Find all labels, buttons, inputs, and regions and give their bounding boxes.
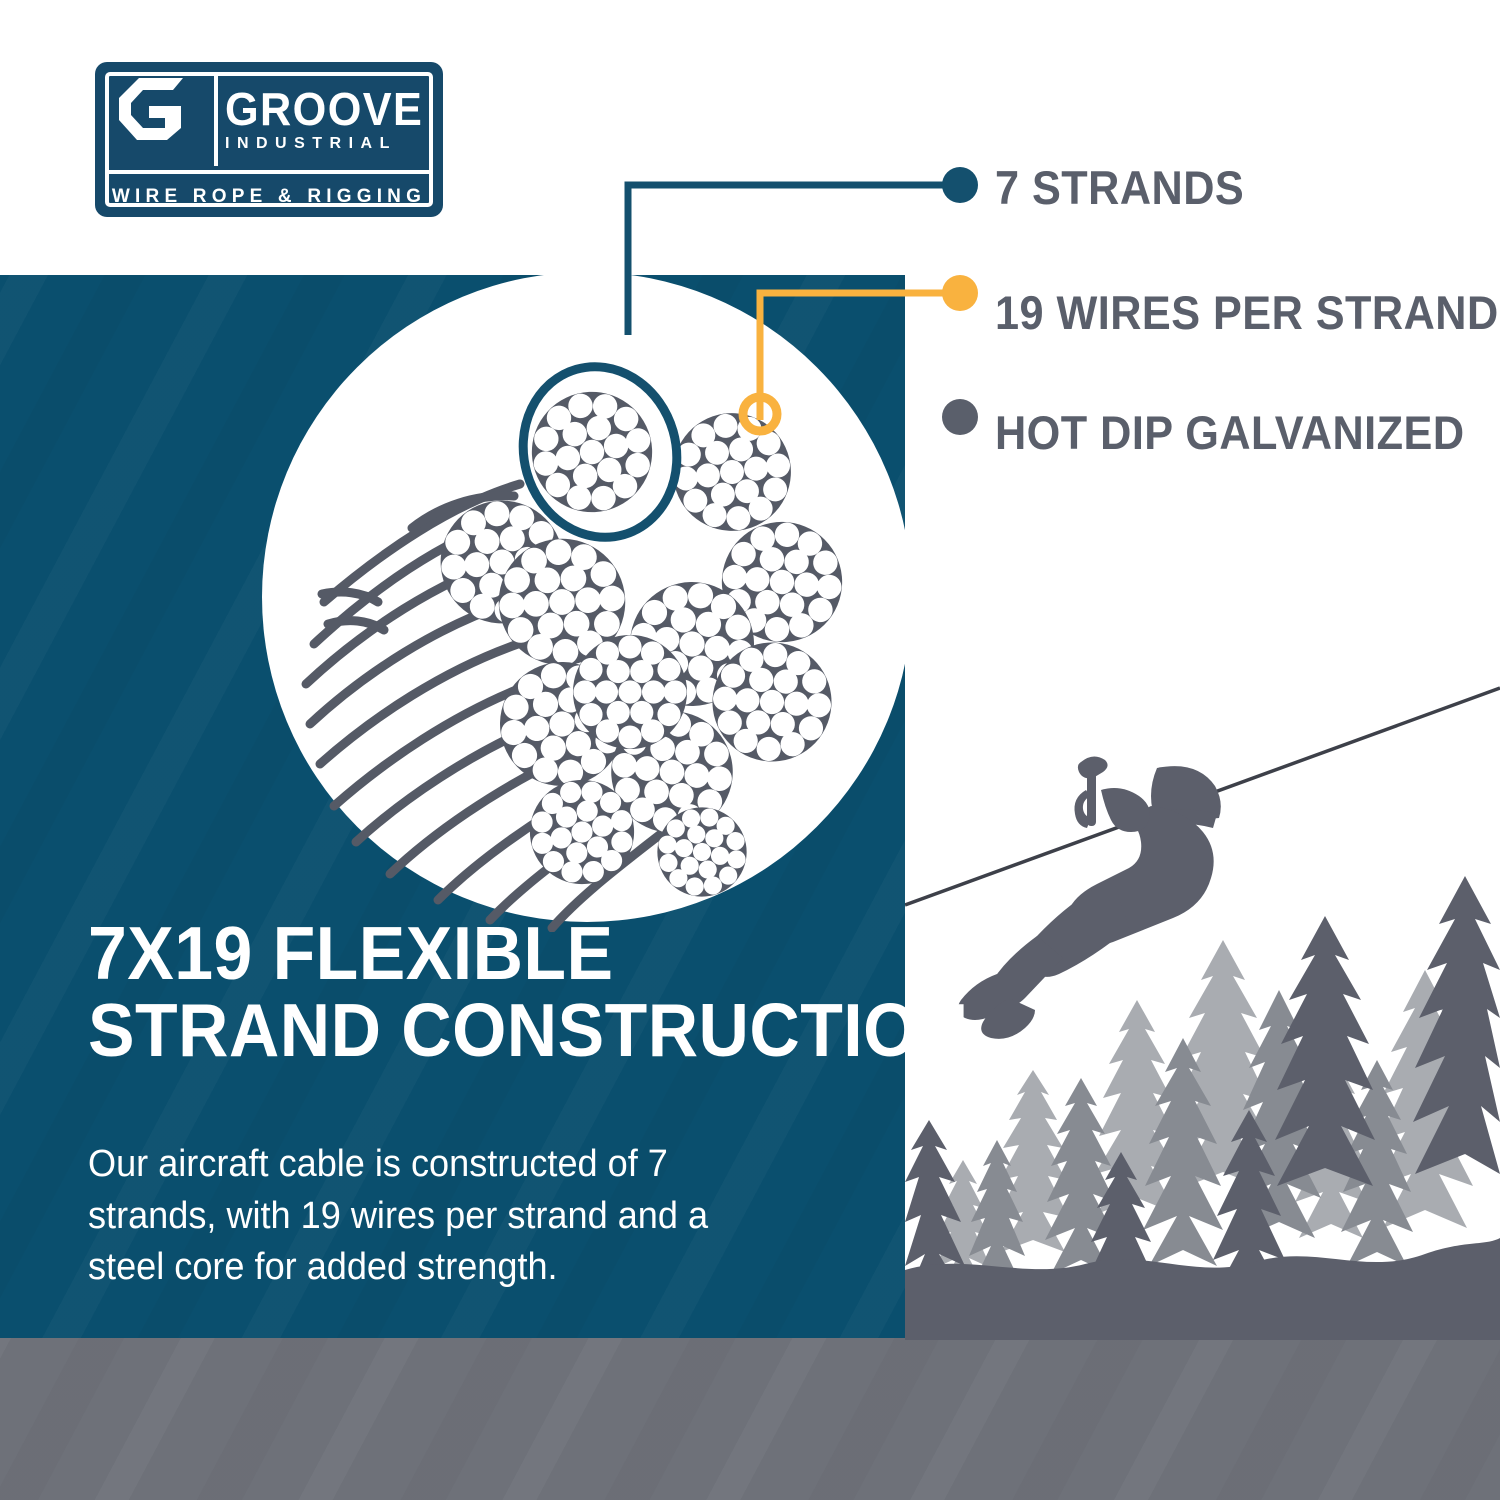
headline-line-2: STRAND CONSTRUCTION <box>88 992 823 1069</box>
callout-label-wires: 19 WIRES PER STRAND <box>995 285 1499 340</box>
callout-connectors <box>560 140 1010 460</box>
logo-tagline-text: WIRE ROPE & RIGGING <box>112 186 426 208</box>
callout-dot-wires <box>942 275 978 311</box>
callout-label-strands: 7 STRANDS <box>995 160 1244 215</box>
logo-sub: INDUSTRIAL <box>225 135 397 153</box>
callout-dot-galvanized <box>942 399 978 435</box>
callout-label-galvanized: HOT DIP GALVANIZED <box>995 405 1465 460</box>
body-copy: Our aircraft cable is constructed of 7 s… <box>88 1139 744 1294</box>
callout-dot-strands <box>942 167 978 203</box>
leader-line-strands <box>628 185 950 335</box>
logo-wordmark: GROOVE INDUSTRIAL <box>225 74 429 166</box>
page-title: 7X19 FLEXIBLE STRAND CONSTRUCTION <box>88 915 823 1070</box>
leader-line-wires <box>760 293 950 420</box>
bottom-gray-band <box>0 1338 1500 1500</box>
band-texture <box>0 1338 1500 1500</box>
connectors-svg <box>560 140 1010 460</box>
zipline-scene <box>905 640 1500 1340</box>
logo-divider <box>109 170 429 174</box>
groove-g-icon-svg <box>117 78 189 140</box>
logo-tagline: WIRE ROPE & RIGGING <box>95 180 443 214</box>
infographic-root: 7 STRANDS 19 WIRES PER STRAND HOT DIP GA… <box>0 0 1500 1500</box>
brand-logo[interactable]: GROOVE INDUSTRIAL WIRE ROPE & RIGGING <box>95 62 443 217</box>
zipline-scene-svg <box>905 640 1500 1340</box>
headline-line-1: 7X19 FLEXIBLE <box>88 915 823 992</box>
groove-g-icon <box>117 78 189 140</box>
logo-word: GROOVE <box>225 87 423 131</box>
